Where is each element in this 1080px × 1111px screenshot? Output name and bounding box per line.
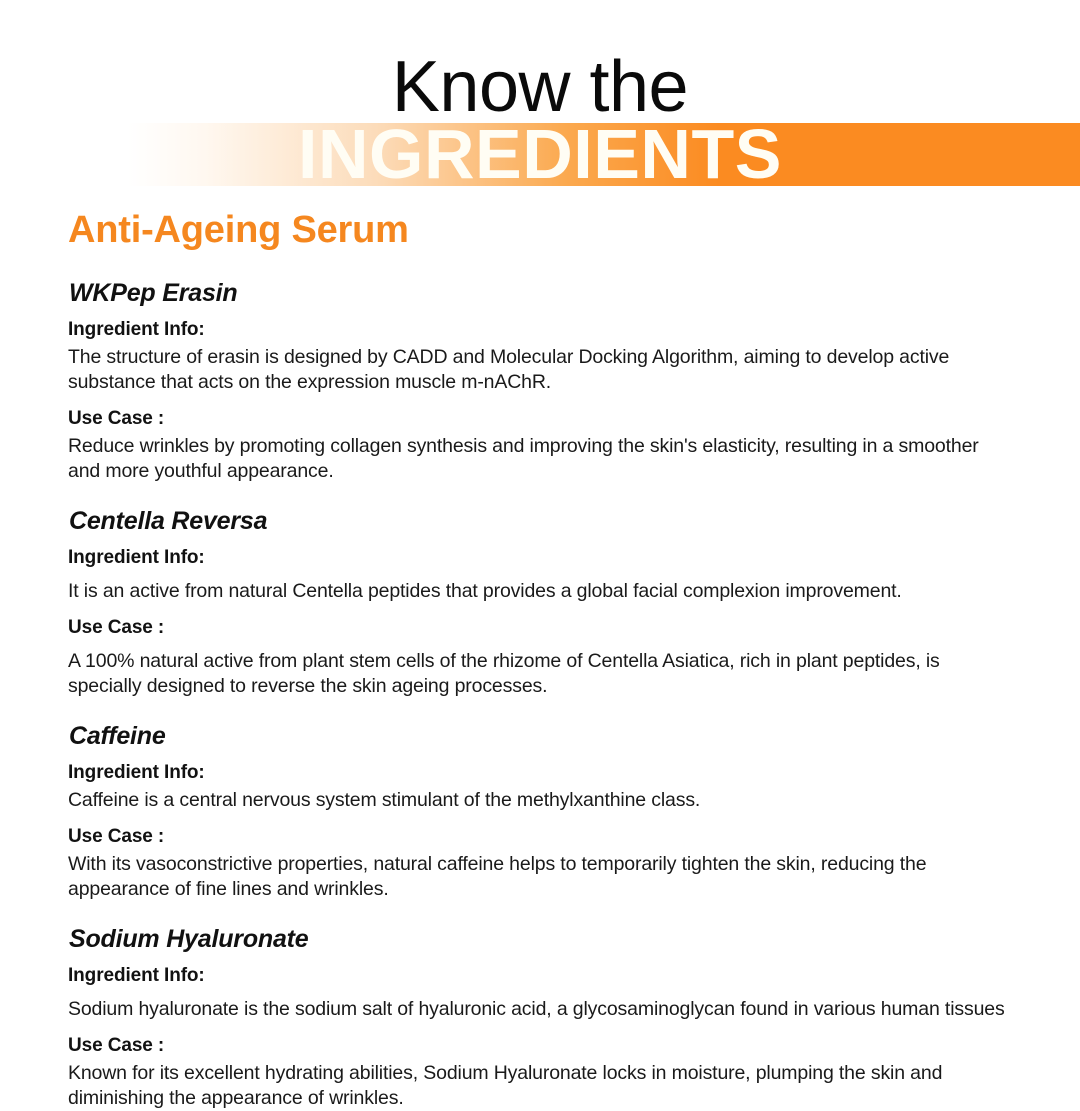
ingredient-name: Centella Reversa — [69, 506, 1018, 536]
ingredient-section: Sodium Hyaluronate Ingredient Info: Sodi… — [68, 924, 1018, 1111]
page-header: Know the INGREDIENTS — [0, 0, 1080, 200]
ingredient-name: Sodium Hyaluronate — [69, 924, 1018, 954]
ingredient-info-text: The structure of erasin is designed by C… — [68, 345, 1008, 395]
ingredient-name: WKPep Erasin — [69, 278, 1018, 308]
use-case-text: With its vasoconstrictive properties, na… — [68, 852, 1008, 902]
ingredient-info-label: Ingredient Info: — [68, 318, 1018, 342]
ingredient-info-label: Ingredient Info: — [68, 546, 1018, 570]
use-case-text: Known for its excellent hydrating abilit… — [68, 1061, 1008, 1111]
ingredient-info-label: Ingredient Info: — [68, 761, 1018, 785]
ingredient-info-text: Sodium hyaluronate is the sodium salt of… — [68, 997, 1008, 1022]
ingredient-section: Caffeine Ingredient Info: Caffeine is a … — [68, 721, 1018, 902]
use-case-label: Use Case : — [68, 825, 1018, 849]
ingredient-name: Caffeine — [69, 721, 1018, 751]
ingredient-info-text: It is an active from natural Centella pe… — [68, 579, 1008, 604]
header-kicker: Know the — [0, 48, 1080, 126]
ingredient-info-label: Ingredient Info: — [68, 964, 1018, 988]
ingredient-section: Centella Reversa Ingredient Info: It is … — [68, 506, 1018, 699]
ingredient-section: WKPep Erasin Ingredient Info: The struct… — [68, 278, 1018, 484]
use-case-label: Use Case : — [68, 616, 1018, 640]
content-area: Anti-Ageing Serum WKPep Erasin Ingredien… — [0, 200, 1080, 1111]
use-case-text: A 100% natural active from plant stem ce… — [68, 649, 1008, 699]
use-case-text: Reduce wrinkles by promoting collagen sy… — [68, 434, 1008, 484]
page-title: Anti-Ageing Serum — [68, 208, 1018, 252]
use-case-label: Use Case : — [68, 1034, 1018, 1058]
ingredient-info-text: Caffeine is a central nervous system sti… — [68, 788, 1008, 813]
use-case-label: Use Case : — [68, 407, 1018, 431]
